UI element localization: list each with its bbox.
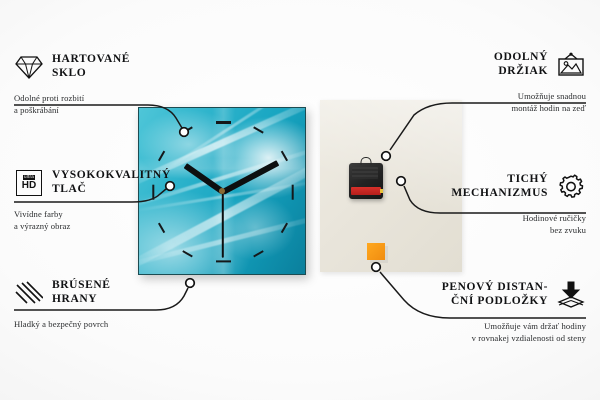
clock-center-hub [219,188,225,194]
picture-hanger-icon [556,50,586,80]
clock-second-hand [222,192,224,258]
clock-hour-marker [158,151,165,161]
feature-durable-hanger[interactable]: ODOLNÝ DRŽIAK Umožňuje snadnou montáž ho… [416,50,586,114]
feature-header: TICHÝ MECHANIZMUS [416,172,586,202]
clock-minute-hand [222,160,279,194]
clock-hour-marker [216,121,231,123]
diamond-icon [14,52,44,82]
clock-hour-marker [254,250,264,257]
clock-hour-marker [216,260,231,262]
feature-silent-mechanism[interactable]: TICHÝ MECHANIZMUS Hodinové ručičky bez z… [416,172,586,236]
feature-title: ODOLNÝ DRŽIAK [494,51,548,78]
foam-spacer-pad [367,243,385,260]
feature-subtitle: Hladký a bezpečný povrch [14,313,184,330]
feature-foam-spacers[interactable]: PENOVÝ DISTAN- ČNÍ PODLOŽKY Umožňuje vám… [386,280,586,344]
feature-subtitle: Odolné proti rozbití a poškrábání [14,87,184,116]
feature-high-quality-print[interactable]: ultra HD VYSOKOKVALITNÝ TLAČ Vivídne far… [14,168,184,232]
feature-subtitle: Umožňuje vám držať hodiny v rovnakej vzd… [386,315,586,344]
mechanism-label [352,167,378,179]
gear-icon [556,172,586,202]
feature-header: HARTOVANÉ SKLO [14,52,184,82]
clock-mechanism-module [349,163,383,199]
feature-header: PENOVÝ DISTAN- ČNÍ PODLOŽKY [386,280,586,310]
feature-subtitle: Umožňuje snadnou montáž hodin na zeď [416,85,586,114]
feature-subtitle: Hodinové ručičky bez zvuku [416,207,586,236]
feature-title: VYSOKOKVALITNÝ TLAČ [52,169,171,196]
clock-hour-marker [182,250,192,257]
feature-title: PENOVÝ DISTAN- ČNÍ PODLOŽKY [442,281,548,308]
aa-battery [351,187,381,195]
feature-header: BRÚSENÉ HRANY [14,278,184,308]
clock-hour-marker [182,127,192,134]
callout-node-left-bottom [186,279,195,288]
foam-spacer-icon [556,280,586,310]
ground-edges-icon [14,278,44,308]
feature-title: BRÚSENÉ HRANY [52,279,111,306]
feature-title: TICHÝ MECHANIZMUS [451,173,548,200]
feature-subtitle: Vivídne farby a výrazný obraz [14,203,184,232]
feature-header: ODOLNÝ DRŽIAK [416,50,586,80]
feature-tempered-glass[interactable]: HARTOVANÉ SKLO Odolné proti rozbití a po… [14,52,184,116]
clock-hour-marker [291,184,293,199]
ultra-hd-icon: ultra HD [14,168,44,198]
clock-hour-marker [281,151,288,161]
hanger-hook-icon [361,157,372,165]
infographic-canvas: HARTOVANÉ SKLO Odolné proti rozbití a po… [0,0,600,400]
clock-hour-marker [281,223,288,233]
feature-ground-edges[interactable]: BRÚSENÉ HRANY Hladký a bezpečný povrch [14,278,184,330]
feature-title: HARTOVANÉ SKLO [52,53,130,80]
clock-hour-marker [254,127,264,134]
feature-header: ultra HD VYSOKOKVALITNÝ TLAČ [14,168,184,198]
